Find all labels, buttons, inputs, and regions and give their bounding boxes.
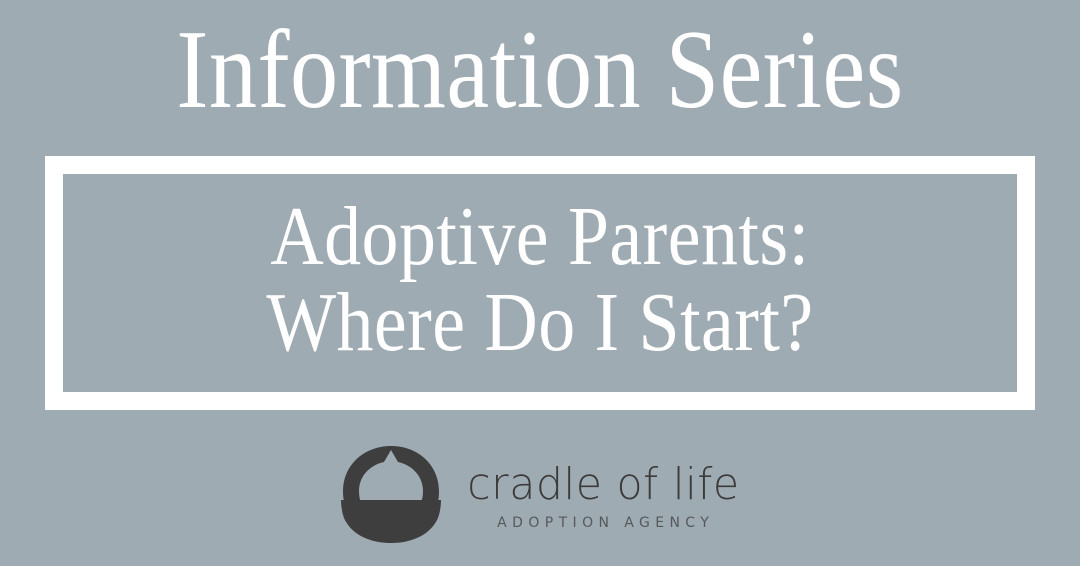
cradle-basket-icon (337, 444, 445, 544)
logo-wordmark: cradle of life (467, 463, 739, 507)
framed-heading-text: Adoptive Parents: Where Do I Start? (266, 194, 813, 371)
page-title: Information Series (76, 6, 1005, 136)
heading-line-2: Where Do I Start? (266, 280, 813, 366)
logo-text-group: cradle of life ADOPTION AGENCY (463, 459, 744, 530)
framed-heading-panel: Adoptive Parents: Where Do I Start? (45, 156, 1035, 410)
logo-tagline: ADOPTION AGENCY (492, 516, 714, 530)
heading-line-1: Adoptive Parents: (266, 194, 813, 280)
poster-canvas: Information Series Adoptive Parents: Whe… (0, 0, 1080, 566)
logo-lockup: cradle of life ADOPTION AGENCY (0, 444, 1080, 544)
